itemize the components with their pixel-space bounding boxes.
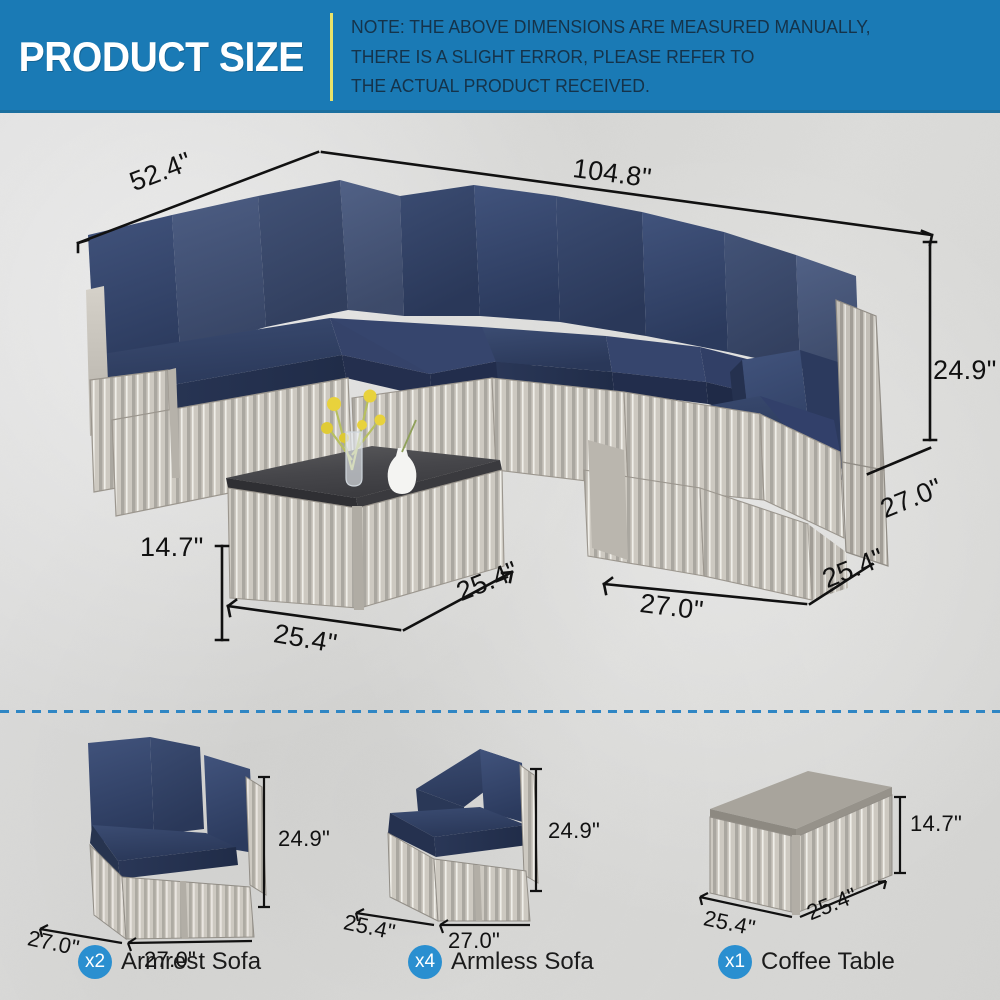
item-coffee-table: 14.7" 25.4" 25.4" x1 Coffee Table <box>680 725 1000 1000</box>
label-coffee-table: Coffee Table <box>761 948 895 976</box>
caption-armrest-sofa: x2 Armrest Sofa <box>78 945 261 979</box>
dim-armrest-height: 24.9" <box>278 826 330 852</box>
qty-badge-armless: x4 <box>408 945 442 979</box>
dim-coffee-height: 14.7" <box>910 811 962 837</box>
item-armrest-sofa: 24.9" 27.0" 27.0" x2 Armrest Sofa <box>0 725 340 1000</box>
label-armrest-sofa: Armrest Sofa <box>121 948 261 976</box>
dim-sectional-height: 24.9" <box>933 355 997 386</box>
qty-badge-coffee: x1 <box>718 945 752 979</box>
component-list: 24.9" 27.0" 27.0" x2 Armrest Sofa <box>0 725 1000 1000</box>
item-armless-sofa: 24.9" 27.0" 25.4" x4 Armless Sofa <box>330 725 670 1000</box>
qty-badge-armrest: x2 <box>78 945 112 979</box>
dim-coffee-table-height: 14.7" <box>140 532 204 563</box>
dim-armless-height: 24.9" <box>548 818 600 844</box>
caption-armless-sofa: x4 Armless Sofa <box>408 945 594 979</box>
caption-coffee-table: x1 Coffee Table <box>718 945 895 979</box>
label-armless-sofa: Armless Sofa <box>451 948 594 976</box>
